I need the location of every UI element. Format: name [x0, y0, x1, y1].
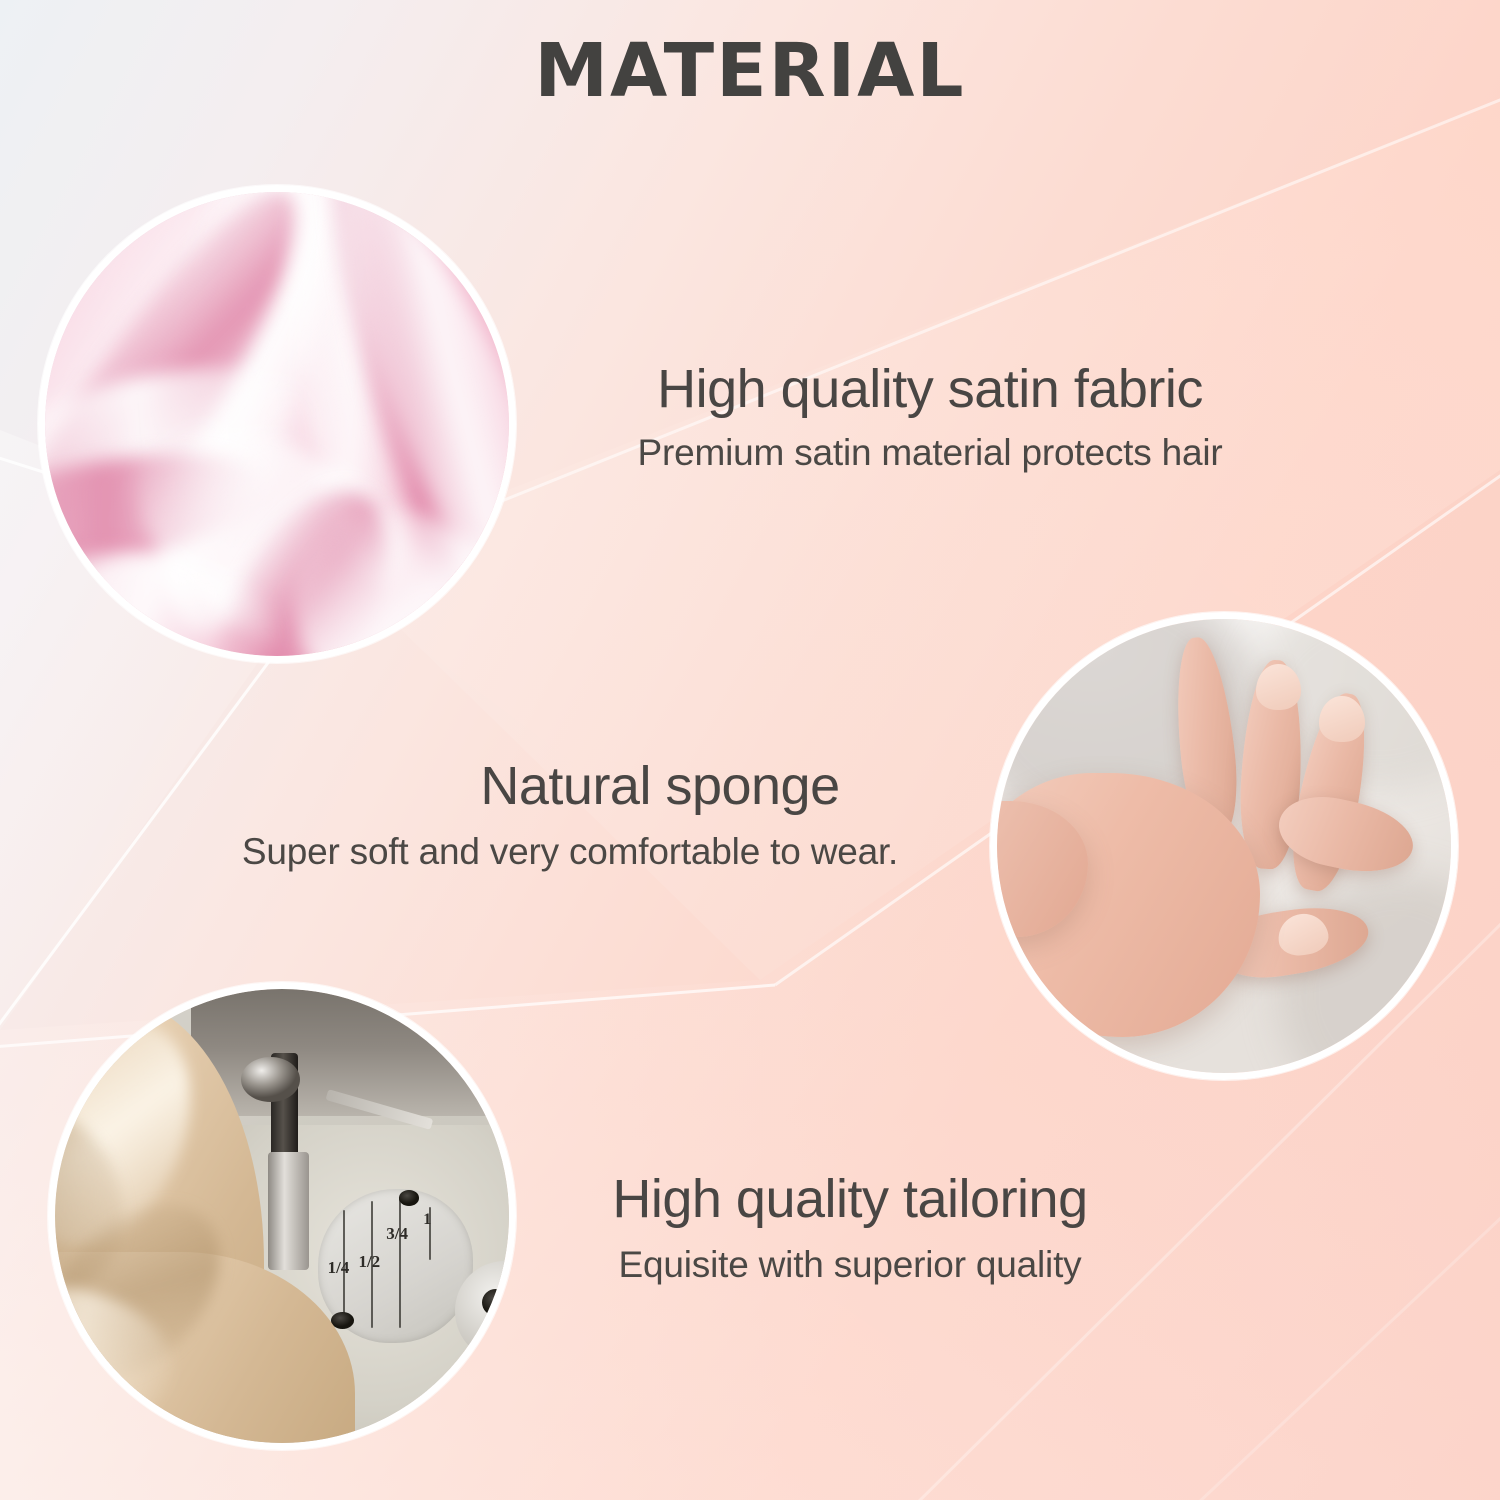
plate-marking-one: 1: [423, 1213, 431, 1228]
feature-text-tailoring: High quality tailoring Equisite with sup…: [520, 1168, 1180, 1286]
feature-image-tailoring: 1/4 1/2 3/4 1: [48, 982, 516, 1450]
feature-text-natural-sponge: Natural sponge Super soft and very comfo…: [120, 755, 1020, 873]
page-title: MATERIAL: [0, 28, 1500, 114]
plate-marking-half: 1/2: [358, 1254, 380, 1270]
feature-subheading-tailoring: Equisite with superior quality: [520, 1244, 1180, 1286]
feature-heading-satin-fabric: High quality satin fabric: [540, 358, 1320, 420]
material-infographic-poster: MATERIAL: [0, 0, 1500, 1500]
feature-heading-natural-sponge: Natural sponge: [300, 755, 1020, 817]
feature-image-natural-sponge: [990, 612, 1458, 1080]
feature-text-satin-fabric: High quality satin fabric Premium satin …: [540, 358, 1320, 474]
feature-subheading-natural-sponge: Super soft and very comfortable to wear.: [120, 831, 1020, 873]
plate-marking-quarter: 1/4: [328, 1260, 350, 1276]
feature-image-satin-fabric: [38, 185, 516, 663]
needle-plate: 1/4 1/2 3/4 1: [318, 1189, 472, 1343]
feature-heading-tailoring: High quality tailoring: [520, 1168, 1180, 1230]
feature-subheading-satin-fabric: Premium satin material protects hair: [540, 432, 1320, 474]
plate-marking-three-quarter: 3/4: [386, 1226, 408, 1242]
